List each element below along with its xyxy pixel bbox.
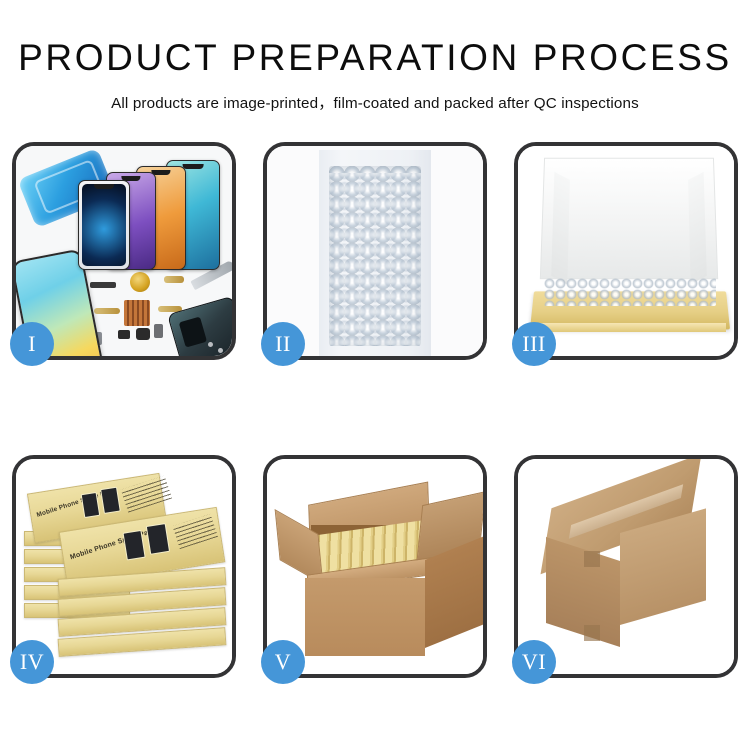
phone-screen-glass — [78, 180, 130, 270]
retail-box-screen-art-2b — [146, 523, 170, 555]
step-badge-4: IV — [10, 640, 54, 684]
carton-front-face — [305, 578, 425, 656]
retail-box-spec-lines-1 — [121, 476, 172, 513]
step-badge-1: I — [10, 322, 54, 366]
mailer-front-edge — [534, 323, 726, 332]
page-title: PRODUCT PREPARATION PROCESS — [0, 37, 750, 79]
product-preparation-infographic: PRODUCT PREPARATION PROCESS All products… — [0, 0, 750, 750]
step-badge-6: VI — [512, 640, 556, 684]
flex-cable-part-a — [164, 276, 184, 283]
retail-box-stack: Mobile Phone Spare Parts Mobile Phone Sp… — [22, 473, 228, 669]
battery-cell-part — [154, 324, 163, 338]
step-badge-3: III — [512, 322, 556, 366]
step-badge-2: II — [261, 322, 305, 366]
phone-lineup — [74, 160, 232, 270]
page-subtitle: All products are image-printed，film-coat… — [0, 91, 750, 113]
process-step-panel-5: V — [263, 455, 487, 678]
spare-parts-group — [88, 266, 232, 356]
copper-grid-part — [124, 300, 150, 326]
process-step-panel-1: I — [12, 142, 236, 360]
screw-part-b — [218, 348, 223, 353]
step-4-image: Mobile Phone Spare Parts Mobile Phone Sp… — [16, 459, 232, 674]
process-step-panel-6: VI — [514, 455, 738, 678]
wireless-coil-part — [130, 272, 150, 292]
process-step-panel-2: II — [263, 142, 487, 360]
mailer-bubble-wrap-contents — [544, 278, 716, 306]
step-6-image — [518, 459, 734, 674]
ic-chip-part — [118, 330, 130, 339]
phone-rear-housing-part — [167, 296, 232, 356]
mailer-lid-side-right — [688, 172, 707, 285]
process-step-grid: I II III — [12, 142, 738, 678]
step-1-image — [16, 146, 232, 356]
tape-tab-lower — [584, 625, 600, 641]
step-badge-5: V — [261, 640, 305, 684]
mailer-lid-side-left — [551, 172, 570, 285]
process-step-panel-4: Mobile Phone Spare Parts Mobile Phone Sp… — [12, 455, 236, 678]
camera-module-part — [136, 328, 150, 340]
retail-box-screen-art-1b — [100, 487, 121, 514]
tape-tab-upper — [584, 551, 600, 567]
bubble-wrap-bubbles-layer2 — [329, 173, 421, 345]
step-3-image — [518, 146, 734, 356]
header: PRODUCT PREPARATION PROCESS All products… — [0, 0, 750, 113]
retail-box-spec-lines-2 — [172, 514, 217, 549]
step-2-image — [267, 146, 483, 356]
step-5-image — [267, 459, 483, 674]
screw-part-a — [208, 342, 213, 347]
process-step-panel-3: III — [514, 142, 738, 360]
mailer-box-lid — [540, 158, 718, 279]
speaker-mesh-part — [90, 282, 116, 288]
flex-cable-part-b — [94, 308, 120, 314]
